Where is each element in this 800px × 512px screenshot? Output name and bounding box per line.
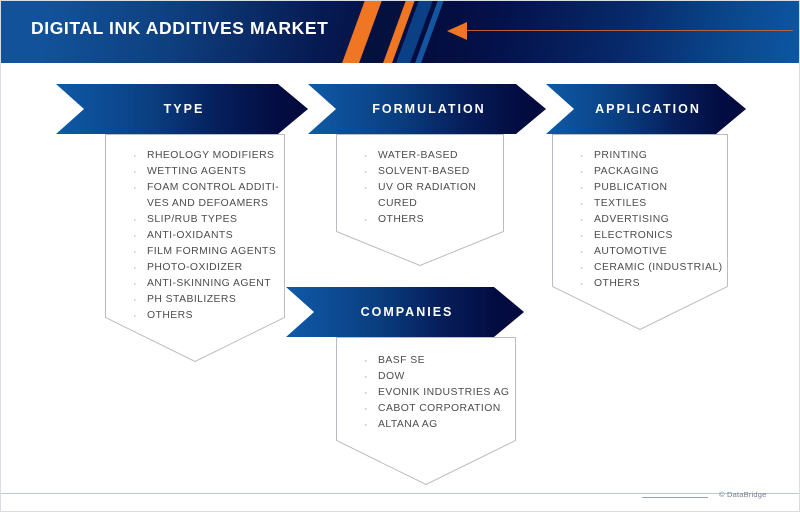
list-item-label: FILM FORMING AGENTS — [147, 246, 276, 257]
bullet-icon: · — [364, 417, 368, 433]
section-list-type: ·RHEOLOGY MODIFIERS ·WETTING AGENTS ·FOA… — [105, 134, 311, 324]
footer-divider — [1, 493, 800, 494]
list-item: ·WATER-BASED — [362, 148, 530, 164]
section-banner-formulation: FORMULATION — [308, 84, 546, 134]
infographic-page: DIGITAL INK ADDITIVES MARKET TYPE ·RHEOL… — [0, 0, 800, 512]
list-item: ·OTHERS — [131, 308, 311, 324]
list-item: ·PHOTO-OXIDIZER — [131, 260, 311, 276]
section-panel-companies: ·BASF SE ·DOW ·EVONIK INDUSTRIES AG ·CAB… — [336, 337, 516, 485]
section-title-type: TYPE — [150, 102, 215, 116]
list-item: ·TEXTILES — [578, 196, 754, 212]
section-banner-application: APPLICATION — [546, 84, 746, 134]
list-item: ·FOAM CONTROL ADDITI- VES AND DEFOAMERS — [131, 180, 311, 212]
section-list-formulation: ·WATER-BASED ·SOLVENT-BASED ·UV OR RADIA… — [336, 134, 530, 228]
list-item-label: PRINTING — [594, 150, 647, 161]
footer-accent-line — [642, 497, 708, 498]
list-item: ·ELECTRONICS — [578, 228, 754, 244]
section-banner-companies: COMPANIES — [286, 287, 524, 337]
bullet-icon: · — [133, 260, 137, 276]
section-title-companies: COMPANIES — [347, 305, 464, 319]
list-item: ·ANTI-OXIDANTS — [131, 228, 311, 244]
section-list-companies: ·BASF SE ·DOW ·EVONIK INDUSTRIES AG ·CAB… — [336, 337, 542, 433]
header-arrow-line-icon — [467, 30, 793, 31]
bullet-icon: · — [133, 148, 137, 164]
bullet-icon: · — [580, 276, 584, 292]
list-item-label: SLIP/RUB TYPES — [147, 214, 237, 225]
bullet-icon: · — [364, 164, 368, 180]
bullet-icon: · — [133, 308, 137, 324]
header-band: DIGITAL INK ADDITIVES MARKET — [1, 1, 800, 63]
list-item: ·CERAMIC (INDUSTRIAL) — [578, 260, 754, 276]
section-title-application: APPLICATION — [581, 102, 711, 116]
bullet-icon: · — [364, 180, 368, 196]
bullet-icon: · — [364, 385, 368, 401]
bullet-icon: · — [580, 180, 584, 196]
list-item-label: WETTING AGENTS — [147, 166, 246, 177]
list-item-label: BASF SE — [378, 355, 425, 366]
bullet-icon: · — [133, 164, 137, 180]
bullet-icon: · — [133, 244, 137, 260]
list-item-label: OTHERS — [594, 278, 640, 289]
list-item-label: CABOT CORPORATION — [378, 403, 501, 414]
list-item-label: UV OR RADIATION CURED — [378, 182, 476, 209]
section-panel-formulation: ·WATER-BASED ·SOLVENT-BASED ·UV OR RADIA… — [336, 134, 504, 266]
list-item-label: ADVERTISING — [594, 214, 669, 225]
section-banner-type: TYPE — [56, 84, 308, 134]
bullet-icon: · — [580, 212, 584, 228]
list-item: ·PRINTING — [578, 148, 754, 164]
list-item: ·PH STABILIZERS — [131, 292, 311, 308]
list-item-label: PHOTO-OXIDIZER — [147, 262, 243, 273]
list-item: ·PACKAGING — [578, 164, 754, 180]
list-item-label: OTHERS — [147, 310, 193, 321]
list-item: ·PUBLICATION — [578, 180, 754, 196]
bullet-icon: · — [580, 164, 584, 180]
section-panel-type: ·RHEOLOGY MODIFIERS ·WETTING AGENTS ·FOA… — [105, 134, 285, 362]
bullet-icon: · — [364, 212, 368, 228]
list-item-label: DOW — [378, 371, 405, 382]
list-item-label: RHEOLOGY MODIFIERS — [147, 150, 274, 161]
list-item: ·ADVERTISING — [578, 212, 754, 228]
list-item: ·DOW — [362, 369, 542, 385]
section-list-application: ·PRINTING ·PACKAGING ·PUBLICATION ·TEXTI… — [552, 134, 754, 292]
list-item: ·SOLVENT-BASED — [362, 164, 530, 180]
list-item-label: CERAMIC (INDUSTRIAL) — [594, 262, 723, 273]
list-item-label: ANTI-OXIDANTS — [147, 230, 233, 241]
list-item: ·WETTING AGENTS — [131, 164, 311, 180]
copyright-label: © DataBridge — [719, 490, 767, 499]
list-item: ·FILM FORMING AGENTS — [131, 244, 311, 260]
bullet-icon: · — [364, 401, 368, 417]
list-item: ·ANTI-SKINNING AGENT — [131, 276, 311, 292]
list-item: ·UV OR RADIATION CURED — [362, 180, 530, 212]
list-item-label: OTHERS — [378, 214, 424, 225]
list-item: ·RHEOLOGY MODIFIERS — [131, 148, 311, 164]
section-title-formulation: FORMULATION — [358, 102, 495, 116]
bullet-icon: · — [580, 148, 584, 164]
bullet-icon: · — [580, 260, 584, 276]
list-item-label: ELECTRONICS — [594, 230, 673, 241]
list-item: ·OTHERS — [578, 276, 754, 292]
list-item-label: PACKAGING — [594, 166, 659, 177]
list-item-label: SOLVENT-BASED — [378, 166, 470, 177]
list-item: ·SLIP/RUB TYPES — [131, 212, 311, 228]
list-item-label: EVONIK INDUSTRIES AG — [378, 387, 509, 398]
list-item: ·ALTANA AG — [362, 417, 542, 433]
list-item: ·OTHERS — [362, 212, 530, 228]
list-item: ·CABOT CORPORATION — [362, 401, 542, 417]
list-item: ·BASF SE — [362, 353, 542, 369]
list-item-label: AUTOMOTIVE — [594, 246, 667, 257]
list-item: ·AUTOMOTIVE — [578, 244, 754, 260]
bullet-icon: · — [580, 196, 584, 212]
bullet-icon: · — [364, 353, 368, 369]
page-title: DIGITAL INK ADDITIVES MARKET — [31, 18, 328, 39]
bullet-icon: · — [364, 369, 368, 385]
bullet-icon: · — [133, 212, 137, 228]
list-item-label: TEXTILES — [594, 198, 647, 209]
list-item-label: ALTANA AG — [378, 419, 438, 430]
header-arrow-left-icon — [447, 22, 467, 40]
bullet-icon: · — [133, 276, 137, 292]
list-item-label: FOAM CONTROL ADDITI- VES AND DEFOAMERS — [147, 182, 279, 209]
bullet-icon: · — [133, 292, 137, 308]
list-item-label: WATER-BASED — [378, 150, 458, 161]
bullet-icon: · — [580, 244, 584, 260]
bullet-icon: · — [133, 228, 137, 244]
bullet-icon: · — [580, 228, 584, 244]
list-item-label: ANTI-SKINNING AGENT — [147, 278, 271, 289]
bullet-icon: · — [364, 148, 368, 164]
list-item-label: PUBLICATION — [594, 182, 667, 193]
list-item: ·EVONIK INDUSTRIES AG — [362, 385, 542, 401]
list-item-label: PH STABILIZERS — [147, 294, 236, 305]
section-panel-application: ·PRINTING ·PACKAGING ·PUBLICATION ·TEXTI… — [552, 134, 728, 330]
bullet-icon: · — [133, 180, 137, 196]
